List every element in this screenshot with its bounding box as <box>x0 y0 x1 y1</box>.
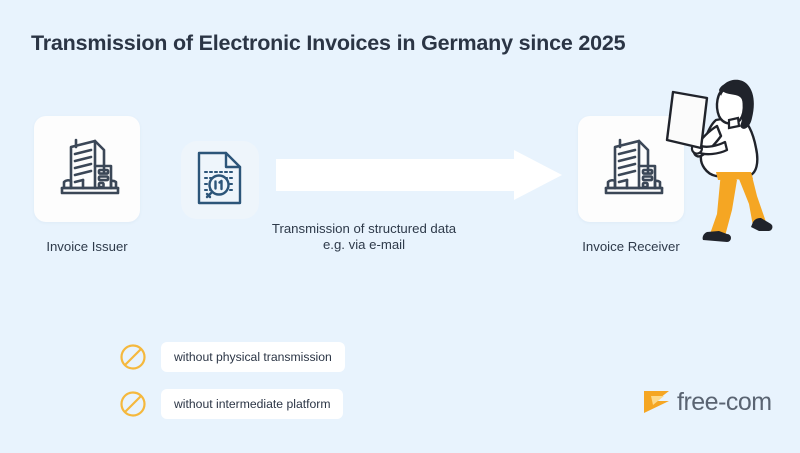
transmission-caption-line1: Transmission of structured data <box>248 221 480 237</box>
constraint-label: without intermediate platform <box>161 389 343 419</box>
prohibited-icon <box>118 389 148 419</box>
constraints-list: without physical transmission without in… <box>118 342 345 436</box>
structured-data-document-badge <box>181 141 259 219</box>
constraint-label: without physical transmission <box>161 342 345 372</box>
flag-pennant-icon <box>643 388 670 415</box>
office-building-icon <box>50 130 124 209</box>
free-com-logo: free-com <box>643 388 772 415</box>
transmission-arrow <box>276 150 562 200</box>
invoice-issuer-label: Invoice Issuer <box>34 239 140 254</box>
free-com-wordmark: free-com <box>677 389 772 415</box>
transmission-caption-line2: e.g. via e-mail <box>248 237 480 253</box>
constraint-item: without physical transmission <box>118 342 345 372</box>
page-title: Transmission of Electronic Invoices in G… <box>31 31 625 56</box>
issuer-icon-card <box>34 116 140 222</box>
person-reading-document-illustration <box>663 76 783 248</box>
office-building-icon <box>594 130 668 209</box>
constraint-item: without intermediate platform <box>118 389 345 419</box>
infographic-canvas: Transmission of Electronic Invoices in G… <box>0 0 800 453</box>
right-arrow-icon <box>276 150 562 200</box>
prohibited-icon <box>118 342 148 372</box>
structured-data-document-icon <box>195 150 245 211</box>
transmission-caption: Transmission of structured data e.g. via… <box>248 221 480 253</box>
invoice-issuer-node: Invoice Issuer <box>34 116 140 254</box>
